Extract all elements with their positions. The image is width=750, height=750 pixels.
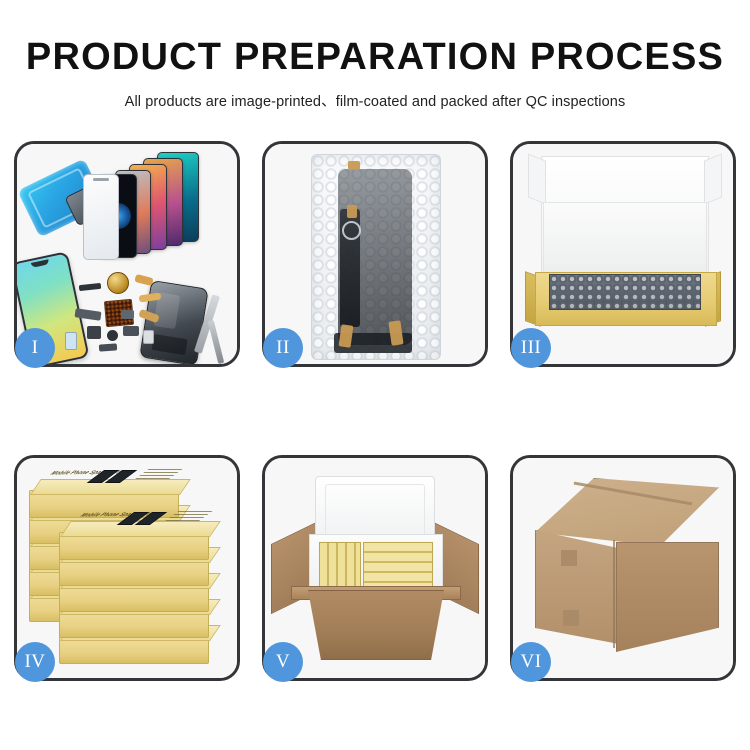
component-icon (123, 326, 139, 336)
process-step-card-1[interactable]: I (14, 141, 240, 367)
page-header: PRODUCT PREPARATION PROCESS All products… (0, 0, 750, 111)
retail-box-icon (59, 610, 209, 638)
bubble-wrap-icon (311, 154, 441, 360)
step-badge-2: II (263, 328, 303, 368)
tape-icon (561, 550, 577, 566)
box-stack-group: Mobile Phone Spare Parts Mobile Phone Sp… (29, 482, 233, 662)
carton-top-icon (535, 478, 719, 546)
component-icon (121, 310, 134, 319)
page-subtitle: All products are image-printed、film-coat… (0, 90, 750, 111)
step-6-image (513, 458, 733, 678)
battery-icon (65, 332, 77, 350)
flex-cable-icon (134, 274, 153, 286)
step-1-image (17, 144, 237, 364)
process-step-card-6[interactable]: VI (510, 455, 736, 681)
component-icon (107, 330, 118, 341)
step-badge-3: III (511, 328, 551, 368)
component-icon (143, 330, 154, 344)
step-2-image (265, 144, 485, 364)
camera-hole-icon (342, 221, 361, 240)
carton-left-face-icon (535, 530, 619, 644)
tape-icon (348, 161, 360, 170)
step-5-image (265, 458, 485, 678)
retail-box-icon (59, 636, 209, 664)
retail-box-icon (59, 584, 209, 612)
speaker-module-icon (107, 272, 129, 294)
component-icon (79, 283, 102, 291)
tape-icon (347, 205, 357, 218)
tape-icon (563, 610, 579, 626)
process-step-card-4[interactable]: Mobile Phone Spare Parts Mobile Phone Sp… (14, 455, 240, 681)
screwdriver-icon (208, 320, 224, 364)
yellow-boxes-group-icon (319, 542, 361, 590)
page-title: PRODUCT PREPARATION PROCESS (0, 38, 750, 78)
carton-right-face-icon (616, 542, 719, 652)
step-3-image (513, 144, 733, 364)
process-step-card-3[interactable]: III (510, 141, 736, 367)
carton-edge-icon (613, 540, 615, 648)
component-icon (87, 326, 101, 339)
carton-body-icon (295, 590, 457, 660)
foam-lining-icon (543, 202, 707, 278)
step-badge-5: V (263, 642, 303, 682)
tempered-glass-icon (83, 174, 119, 260)
screen-fan-group (95, 152, 235, 264)
retail-box-icon (59, 558, 209, 586)
bubble-wrapped-contents-icon (549, 274, 701, 310)
box-label-specs (132, 469, 182, 481)
process-step-card-5[interactable]: V (262, 455, 488, 681)
step-badge-1: I (15, 328, 55, 368)
process-step-card-2[interactable]: II (262, 141, 488, 367)
step-badge-4: IV (15, 642, 55, 682)
step-4-image: Mobile Phone Spare Parts Mobile Phone Sp… (17, 458, 237, 678)
process-steps-grid: I II III (14, 141, 736, 681)
retail-box-icon: Mobile Phone Spare Parts (59, 532, 209, 560)
component-icon (99, 343, 117, 351)
yellow-boxes-group-icon (363, 542, 433, 590)
step-badge-6: VI (511, 642, 551, 682)
